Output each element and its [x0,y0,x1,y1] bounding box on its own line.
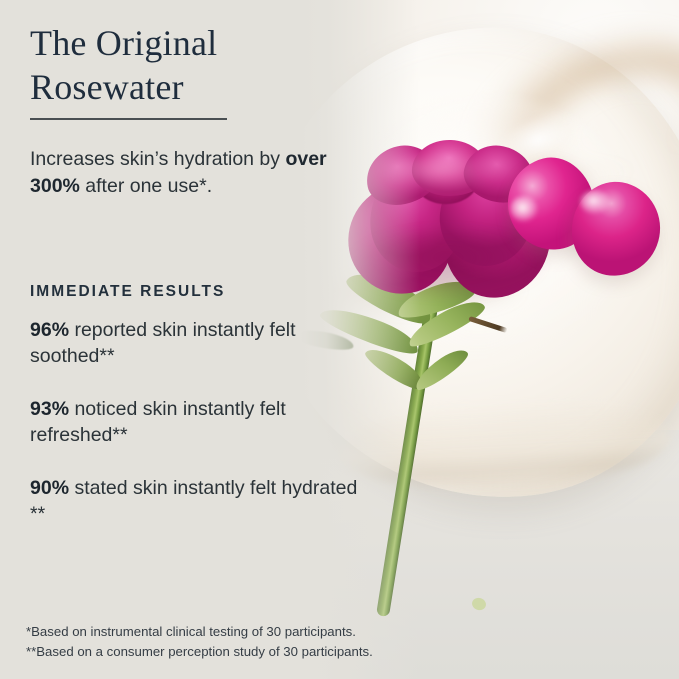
claim-suffix: after one use*. [80,175,212,197]
text-panel: The OriginalRosewater Increases skin’s h… [0,0,679,679]
hydration-claim: Increases skin’s hydration by over 300% … [30,146,360,199]
stat-text: stated skin instantly felt hydrated ** [30,477,357,525]
stat-value: 93% [30,398,69,420]
stat-text: noticed skin instantly felt refreshed** [30,398,286,446]
footnotes: *Based on instrumental clinical testing … [26,622,486,662]
footnote-double-asterisk: **Based on a consumer perception study o… [26,642,486,662]
list-item: 90% stated skin instantly felt hydrated … [30,476,360,528]
footnote-single-asterisk: *Based on instrumental clinical testing … [26,622,486,642]
results-list: 96% reported skin instantly felt soothed… [30,318,360,528]
title-line-2: Rosewater [30,67,184,107]
title-divider [30,118,227,120]
title-line-1: The Original [30,23,217,63]
list-item: 96% reported skin instantly felt soothed… [30,318,360,370]
list-item: 93% noticed skin instantly felt refreshe… [30,397,360,449]
page-title: The OriginalRosewater [30,22,360,110]
stat-value: 90% [30,477,69,499]
results-eyebrow: IMMEDIATE RESULTS [30,283,225,301]
stat-text: reported skin instantly felt soothed** [30,319,296,367]
rosewater-infographic: The OriginalRosewater Increases skin’s h… [0,0,679,679]
claim-prefix: Increases skin’s hydration by [30,148,285,170]
stat-value: 96% [30,319,69,341]
